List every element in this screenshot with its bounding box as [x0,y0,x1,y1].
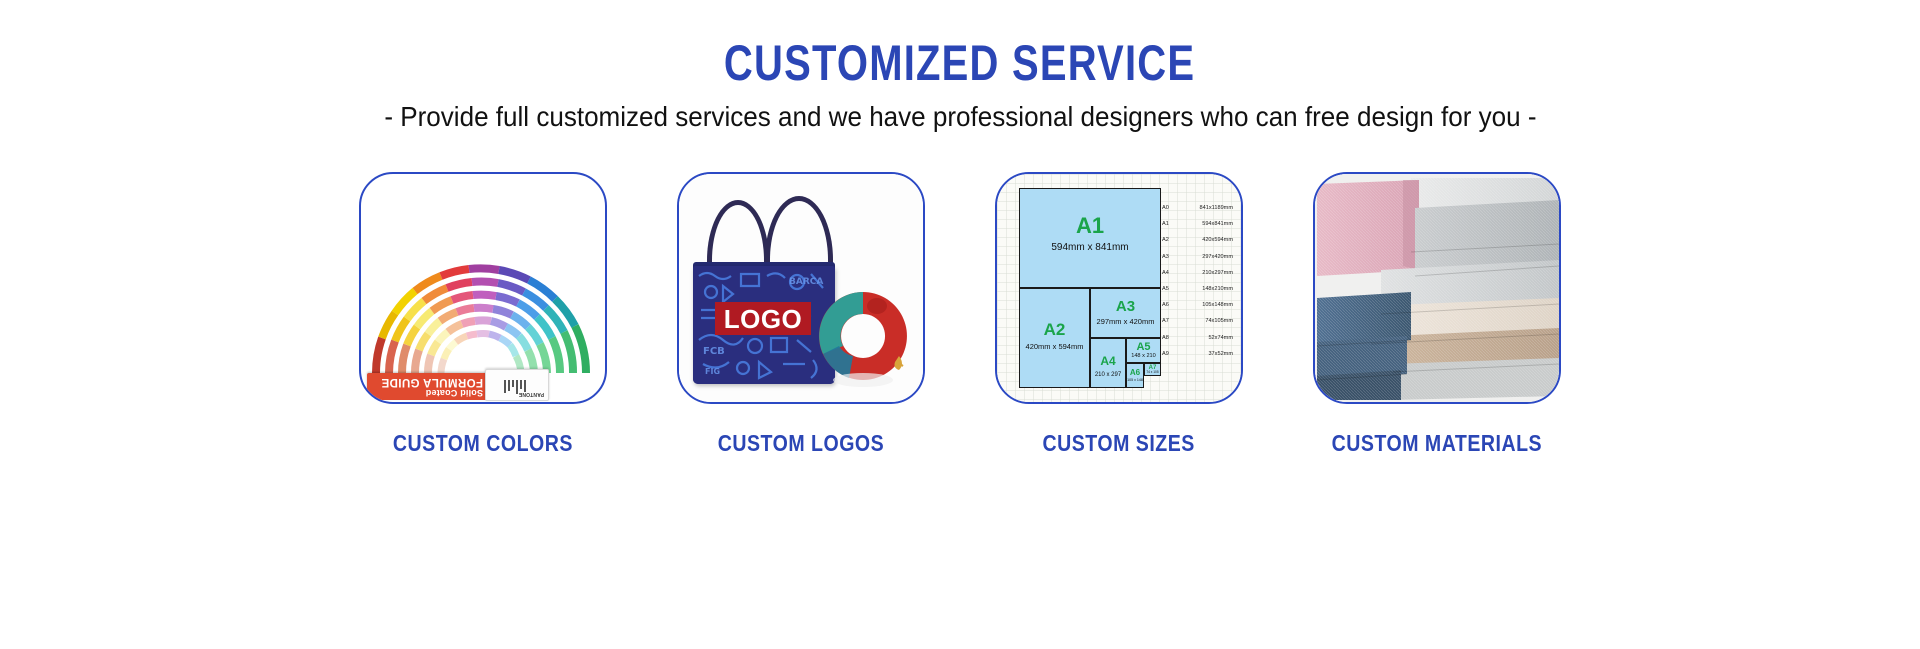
paper-box-a2-name: A2 [1020,321,1089,338]
size-row: A5 148x210mm [1162,281,1236,297]
size-value: 105x148mm [1179,302,1236,308]
size-row: A2 420x594mm [1162,232,1236,248]
size-row: A3 297x420mm [1162,249,1236,265]
pantone-fan-deck-icon: Solid Coated FORMULA GUIDE PANTONE [361,174,605,402]
size-value: 148x210mm [1179,286,1236,292]
custom-sizes-image-frame: A1 594mm x 841mm A2 420mm x 594mm A3 297… [995,172,1243,404]
svg-text:FIG: FIG [705,367,720,376]
card-caption-custom-colors: CUSTOM COLORS [393,430,573,457]
size-value: 210x297mm [1179,270,1236,276]
bag-handle-right [765,196,833,271]
paper-box-a4-name: A4 [1091,355,1125,367]
customized-service-banner: CUSTOMIZED SERVICE - Provide full custom… [0,0,1920,649]
custom-materials-image-frame [1313,172,1561,404]
paper-box-a4-dims: 210 x 297 [1091,372,1125,378]
size-key: A6 [1162,302,1179,308]
service-card-custom-materials[interactable]: CUSTOM MATERIALS [1313,172,1561,457]
logo-placeholder-band: LOGO [715,302,811,335]
fabric-swatches-photo [1315,174,1559,402]
size-key: A9 [1162,351,1179,357]
page-title: CUSTOMIZED SERVICE [724,38,1195,88]
size-row: A4 210x297mm [1162,265,1236,281]
paper-box-a5-name: A5 [1127,342,1160,353]
paper-box-a1-dims: 594mm x 841mm [1020,243,1160,253]
neck-pillow-icon [811,284,915,388]
service-card-custom-sizes[interactable]: A1 594mm x 841mm A2 420mm x 594mm A3 297… [995,172,1243,457]
paper-size-diagram: A1 594mm x 841mm A2 420mm x 594mm A3 297… [997,174,1241,402]
page-subtitle: - Provide full customized services and w… [384,102,1536,133]
paper-box-a6: A6 105 x 148 [1126,363,1144,388]
size-value: 841x1189mm [1179,205,1236,211]
size-value: 594x841mm [1179,221,1236,227]
paper-box-a4: A4 210 x 297 [1090,338,1126,388]
formula-guide-subtitle: Solid Coated [426,388,483,398]
size-key: A0 [1162,205,1179,211]
paper-box-a6-name: A6 [1127,369,1143,377]
paper-box-a6-dims: 105 x 148 [1127,379,1143,383]
size-row: A7 74x105mm [1162,313,1236,329]
fan-arcs [363,251,607,376]
paper-box-a1: A1 594mm x 841mm [1019,188,1161,288]
pantone-tag-bars [504,380,526,394]
logo-text: LOGO [724,306,803,332]
formula-guide-label: Solid Coated FORMULA GUIDE [367,373,493,400]
card-caption-custom-sizes: CUSTOM SIZES [1043,430,1195,457]
size-key: A4 [1162,270,1179,276]
svg-text:FCB: FCB [703,346,725,357]
service-card-custom-logos[interactable]: BARCA FCB FIG LOGO [677,172,925,457]
bag-handle-left [707,200,769,271]
size-value: 297x420mm [1179,254,1236,260]
tote-bag-photo: BARCA FCB FIG LOGO [679,174,923,402]
card-caption-custom-materials: CUSTOM MATERIALS [1332,430,1543,457]
size-value: 420x594mm [1179,237,1236,243]
paper-box-a2-dims: 420mm x 594mm [1020,343,1089,351]
paper-box-a7-dims: 74 x 105 [1145,371,1160,374]
size-key: A8 [1162,335,1179,341]
size-value: 52x74mm [1179,335,1236,341]
paper-box-a1-name: A1 [1020,215,1160,237]
size-row: A0 841x1189mm [1162,200,1236,216]
size-key: A5 [1162,286,1179,292]
paper-box-a2: A2 420mm x 594mm [1019,288,1090,388]
custom-logos-image-frame: BARCA FCB FIG LOGO [677,172,925,404]
size-row: A1 594x841mm [1162,216,1236,232]
size-key: A2 [1162,237,1179,243]
formula-guide-title: FORMULA GUIDE [381,376,483,388]
paper-box-a7: A7 74 x 105 [1144,363,1161,376]
size-key: A3 [1162,254,1179,260]
size-row: A6 105x148mm [1162,297,1236,313]
size-key: A1 [1162,221,1179,227]
paper-box-a5: A5 148 x 210 [1126,338,1161,363]
paper-size-reference-table: A0 841x1189mm A1 594x841mm A2 420x594mm [1162,200,1236,362]
service-card-custom-colors[interactable]: Solid Coated FORMULA GUIDE PANTONE CUSTO… [359,172,607,457]
size-row: A9 37x52mm [1162,346,1236,362]
paper-box-a3-dims: 297mm x 420mm [1091,318,1160,326]
size-value: 37x52mm [1179,351,1236,357]
card-caption-custom-logos: CUSTOM LOGOS [718,430,885,457]
service-cards-row: Solid Coated FORMULA GUIDE PANTONE CUSTO… [0,172,1920,457]
paper-box-a3-name: A3 [1091,299,1160,314]
size-value: 74x105mm [1179,318,1236,324]
size-key: A7 [1162,318,1179,324]
custom-colors-image-frame: Solid Coated FORMULA GUIDE PANTONE [359,172,607,404]
paper-box-a3: A3 297mm x 420mm [1090,288,1161,338]
size-row: A8 52x74mm [1162,330,1236,346]
pantone-tag: PANTONE [485,369,549,401]
fabric-stack-icon [1315,174,1559,402]
paper-box-a5-dims: 148 x 210 [1127,354,1160,360]
